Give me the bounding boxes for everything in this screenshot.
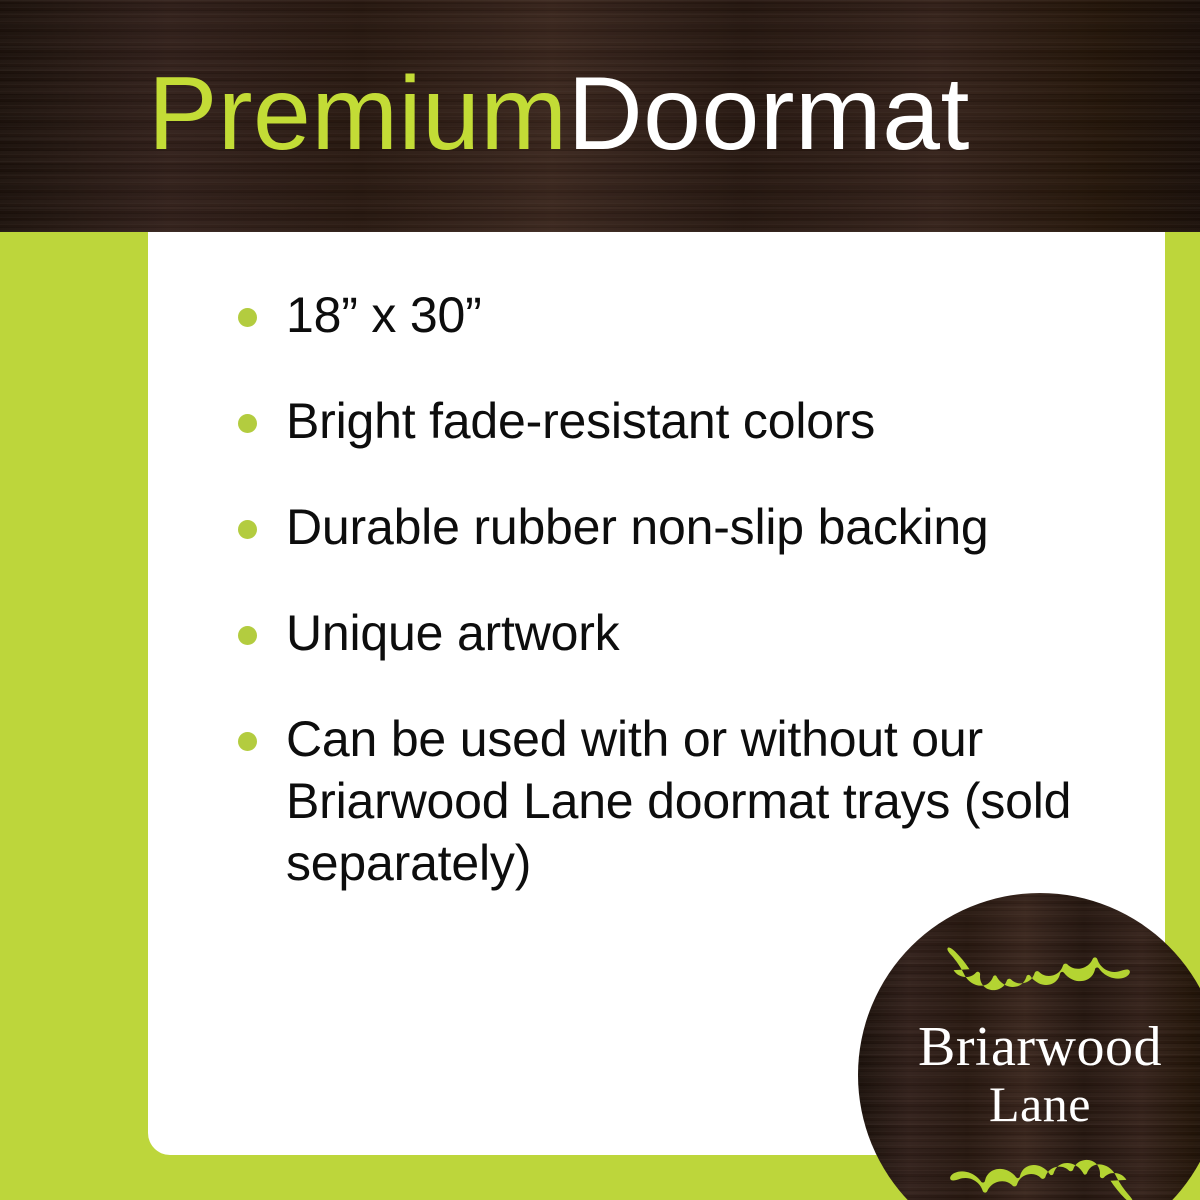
bullet-icon — [238, 626, 257, 645]
list-item: Can be used with or without our Briarwoo… — [238, 708, 1118, 894]
list-item: Durable rubber non-slip backing — [238, 496, 1118, 558]
page-title-main: Doormat — [568, 56, 970, 172]
bullet-icon — [238, 520, 257, 539]
product-infographic: PremiumDoormat Premium Outdoor Decor 18”… — [0, 0, 1200, 1200]
sidebar-panel: Premium Outdoor Decor — [0, 232, 148, 1200]
page-title-accent: Premium — [148, 56, 568, 172]
header-banner: PremiumDoormat — [0, 0, 1200, 232]
list-item-label: Bright fade-resistant colors — [286, 393, 875, 449]
feature-list: 18” x 30” Bright fade-resistant colors D… — [238, 284, 1118, 894]
page-title: PremiumDoormat — [148, 58, 970, 170]
bullet-icon — [238, 308, 257, 327]
brand-logo-content: Briarwood Lane — [858, 893, 1200, 1200]
list-item-label: 18” x 30” — [286, 287, 482, 343]
list-item: Bright fade-resistant colors — [238, 390, 1118, 452]
brand-logo-badge: Briarwood Lane — [858, 893, 1200, 1200]
brand-name-line2: Lane — [918, 1079, 1162, 1129]
bullet-icon — [238, 732, 257, 751]
list-item: 18” x 30” — [238, 284, 1118, 346]
brand-wordmark: Briarwood Lane — [918, 1019, 1162, 1129]
list-item-label: Unique artwork — [286, 605, 619, 661]
list-item-label: Durable rubber non-slip backing — [286, 499, 989, 555]
bullet-icon — [238, 414, 257, 433]
leaf-icon — [947, 1135, 1133, 1200]
list-item: Unique artwork — [238, 602, 1118, 664]
leaf-icon — [947, 943, 1133, 1015]
list-item-label: Can be used with or without our Briarwoo… — [286, 711, 1071, 891]
brand-name-line1: Briarwood — [918, 1019, 1162, 1075]
